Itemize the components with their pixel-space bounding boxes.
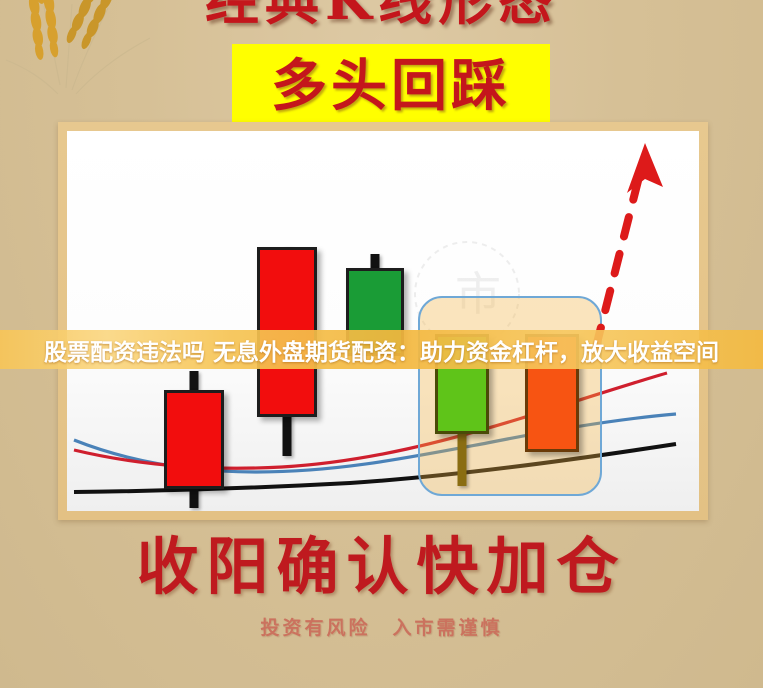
pattern-name-banner: 多头回踩 <box>232 44 550 128</box>
uptrend-arrow-head-icon <box>627 143 663 193</box>
chart-frame: 市 <box>58 122 708 520</box>
footer-disclaimer-right: 入市需谨慎 <box>393 617 503 639</box>
overlay-text-bar: 股票配资违法吗 无息外盘期货配资：助力资金杠杆，放大收益空间 <box>0 330 763 369</box>
overlay-text: 股票配资违法吗 无息外盘期货配资：助力资金杠杆，放大收益空间 <box>44 333 719 367</box>
footer-disclaimer-left: 投资有风险 <box>260 617 370 639</box>
footer-disclaimer: 投资有风险入市需谨慎 <box>0 608 763 648</box>
uptrend-arrow-annotation <box>67 131 699 511</box>
candlestick-chart: 市 <box>67 131 699 511</box>
poster-top-title: 经典K线形态 <box>0 0 763 32</box>
pattern-name-text: 多头回踩 <box>271 58 511 114</box>
uptrend-arrow-dashed-line <box>596 177 639 347</box>
bottom-slogan: 收阳确认快加仓 <box>0 528 763 606</box>
poster-root: 经典K线形态 多头回踩 市 <box>0 0 763 688</box>
